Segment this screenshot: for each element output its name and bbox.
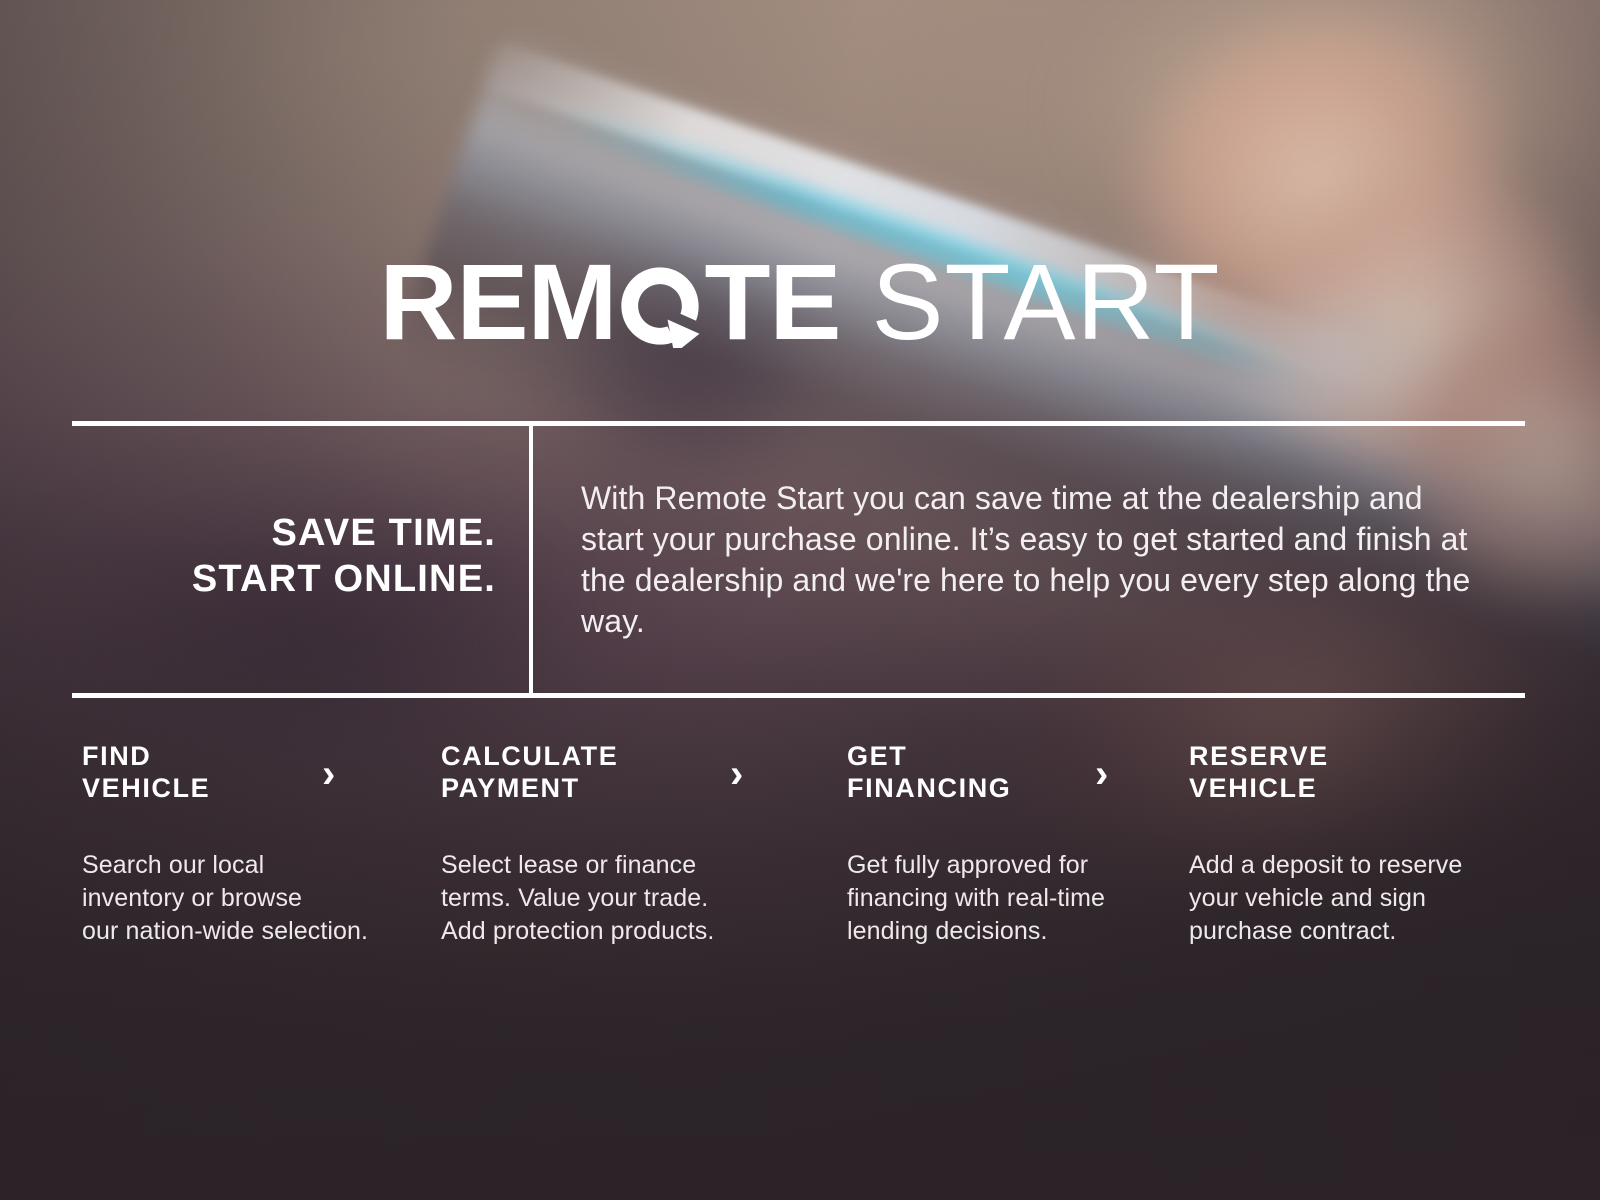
divider-bottom (72, 693, 1525, 698)
logo-word-remote-part1: REM (379, 241, 616, 362)
step-description: Select lease or finance terms. Value you… (441, 849, 741, 949)
chevron-right-icon: › (1095, 754, 1108, 794)
divider-top (72, 421, 1525, 426)
restart-circle-arrow-icon (618, 264, 702, 348)
remote-start-banner: REM TE START SAVE TIME. START ONLINE. Wi… (0, 0, 1600, 1200)
step-description: Search our local inventory or browse our… (82, 849, 392, 949)
chevron-right-icon: › (730, 754, 743, 794)
step-title: CALCULATE PAYMENT (441, 740, 741, 805)
chevron-right-icon: › (322, 754, 335, 794)
step-description: Get fully approved for financing with re… (847, 849, 1127, 949)
step-title: GET FINANCING (847, 740, 1127, 805)
intro-heading-line-1: SAVE TIME. (72, 510, 496, 556)
step-title: FIND VEHICLE (82, 740, 392, 805)
step-description: Add a deposit to reserve your vehicle an… (1189, 849, 1509, 949)
divider-vertical (529, 426, 533, 693)
logo-word-start: START (840, 241, 1220, 362)
step-reserve-vehicle[interactable]: RESERVE VEHICLE Add a deposit to reserve… (1189, 740, 1509, 949)
intro-heading: SAVE TIME. START ONLINE. (72, 510, 496, 603)
step-title: RESERVE VEHICLE (1189, 740, 1509, 805)
step-get-financing[interactable]: GET FINANCING Get fully approved for fin… (847, 740, 1127, 949)
logo-word-remote-part2: TE (704, 241, 840, 362)
step-calculate-payment[interactable]: CALCULATE PAYMENT Select lease or financ… (441, 740, 741, 949)
intro-heading-line-2: START ONLINE. (72, 556, 496, 602)
logo-remote-start: REM TE START (0, 248, 1600, 356)
step-find-vehicle[interactable]: FIND VEHICLE Search our local inventory … (82, 740, 392, 949)
intro-body-text: With Remote Start you can save time at t… (581, 478, 1471, 642)
